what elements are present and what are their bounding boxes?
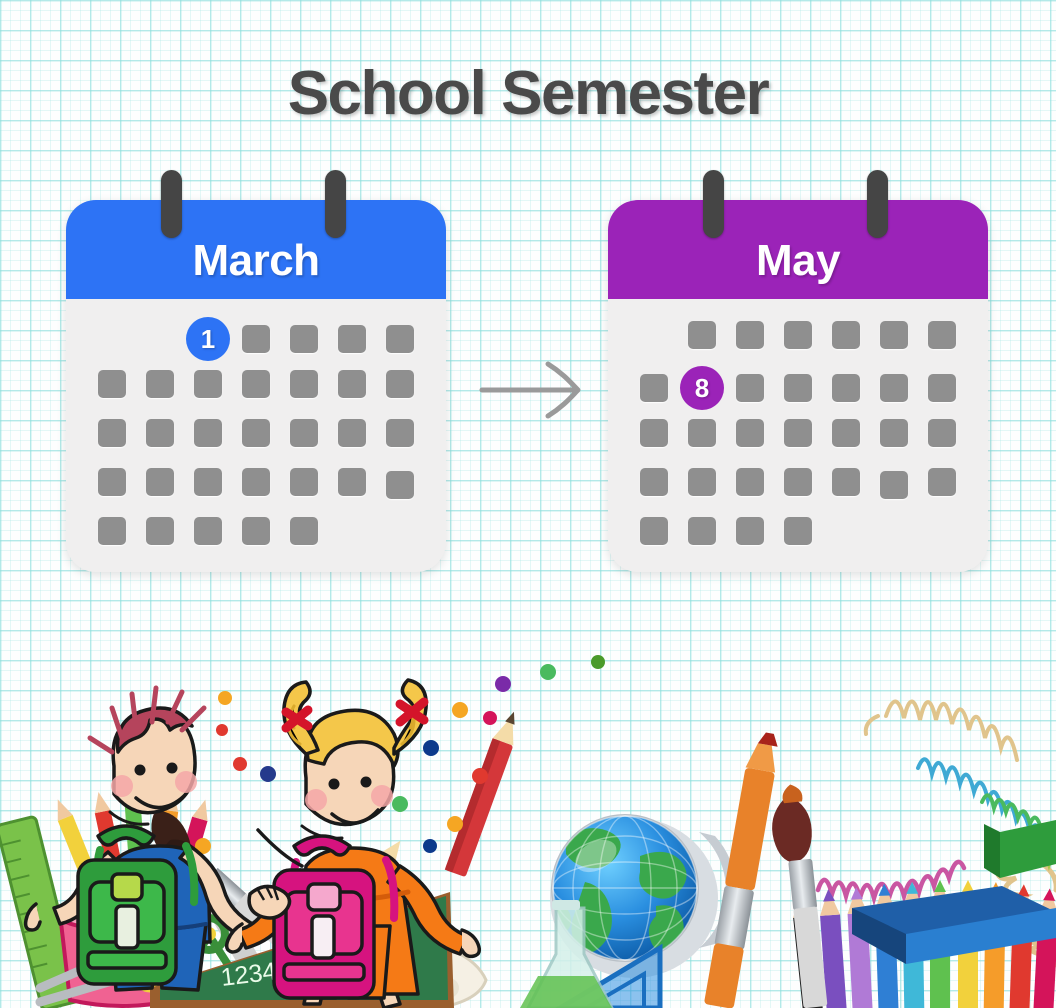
calendar-day-cell[interactable] [832, 468, 860, 496]
girl-right-pigtail [394, 680, 426, 754]
calendar-empty-cell [924, 513, 960, 549]
poster-canvas: School Semester March 1 May 8 [0, 0, 1056, 1008]
calendar-week-row [88, 366, 424, 402]
calendar-day-cell[interactable] [146, 517, 174, 545]
calendar-day-grid: 8 [608, 299, 988, 549]
calendar-day-cell[interactable] [640, 419, 668, 447]
calendar-day-cell[interactable] [242, 468, 270, 496]
calendar-empty-cell [636, 317, 672, 353]
calendar-week-row [88, 415, 424, 451]
calendar-day-cell[interactable] [146, 370, 174, 398]
calendar-day-cell[interactable] [290, 370, 318, 398]
calendar-day-cell[interactable] [98, 419, 126, 447]
calendar-highlight-day[interactable]: 1 [186, 317, 230, 361]
calendar-month-label: May [756, 239, 840, 295]
calendar-day-cell[interactable] [242, 517, 270, 545]
calendar-day-cell[interactable] [880, 321, 908, 349]
calendar-card: March 1 [66, 200, 446, 572]
calendar-week-row: 1 [88, 317, 424, 353]
calendar-week-row [88, 464, 424, 500]
calendar-ring-right-icon [325, 170, 346, 238]
calendar-day-cell[interactable] [928, 321, 956, 349]
page-title: School Semester [0, 58, 1056, 129]
calendar-day-cell[interactable] [386, 325, 414, 353]
calendar-day-cell[interactable] [784, 517, 812, 545]
calendar-day-cell[interactable] [386, 370, 414, 398]
calendar-day-cell[interactable] [242, 419, 270, 447]
calendar-day-cell[interactable] [242, 370, 270, 398]
calendar-day-cell[interactable] [338, 468, 366, 496]
confetti-dots [195, 655, 605, 854]
calendar-week-row [630, 415, 966, 451]
calendar-day-cell[interactable] [688, 419, 716, 447]
calendar-day-cell[interactable] [242, 325, 270, 353]
calendar-day-cell[interactable] [688, 321, 716, 349]
calendar-header: May [608, 200, 988, 299]
calendar-day-cell[interactable] [146, 419, 174, 447]
calendar-day-cell[interactable] [290, 517, 318, 545]
calendar-day-cell[interactable] [194, 370, 222, 398]
paintbrush-large [704, 730, 782, 1008]
calendar-march[interactable]: March 1 [66, 200, 446, 572]
calendar-empty-cell [828, 513, 864, 549]
calendar-day-grid: 1 [66, 299, 446, 549]
calendar-day-cell[interactable] [736, 517, 764, 545]
paintbrush-small [768, 783, 831, 1008]
calendar-may[interactable]: May 8 [608, 200, 988, 572]
calendar-day-cell[interactable] [784, 321, 812, 349]
arrow-right-icon [478, 360, 588, 420]
calendar-header: March [66, 200, 446, 299]
calendar-day-cell[interactable] [194, 517, 222, 545]
calendar-day-cell[interactable] [880, 471, 908, 499]
calendar-day-cell[interactable] [928, 468, 956, 496]
calendar-day-cell[interactable] [736, 374, 764, 402]
calendar-day-cell[interactable] [928, 374, 956, 402]
calendar-day-cell[interactable] [880, 374, 908, 402]
girl-left-pigtail [284, 682, 318, 754]
school-supplies-illustration: 5 · 4 = 9 123456789 [0, 588, 1056, 1008]
calendar-week-row [630, 317, 966, 353]
calendar-day-cell[interactable] [338, 419, 366, 447]
red-pencil-held [445, 708, 525, 877]
calendar-day-cell[interactable] [928, 419, 956, 447]
calendar-day-cell[interactable] [194, 419, 222, 447]
calendar-card: May 8 [608, 200, 988, 572]
calendar-empty-cell [94, 321, 130, 357]
calendar-day-cell[interactable] [784, 374, 812, 402]
calendar-empty-cell [382, 513, 418, 549]
calendar-week-row: 8 [630, 366, 966, 402]
calendar-day-cell[interactable] [338, 370, 366, 398]
calendar-day-cell[interactable] [290, 419, 318, 447]
calendar-day-cell[interactable] [736, 468, 764, 496]
calendar-ring-right-icon [867, 170, 888, 238]
calendar-week-row [630, 513, 966, 549]
calendar-day-cell[interactable] [832, 374, 860, 402]
calendar-week-row [88, 513, 424, 549]
calendar-day-cell[interactable] [640, 374, 668, 402]
calendar-empty-cell [142, 321, 178, 357]
calendar-day-cell[interactable] [386, 419, 414, 447]
calendar-day-cell[interactable] [784, 468, 812, 496]
calendar-day-cell[interactable] [290, 468, 318, 496]
calendar-highlight-day[interactable]: 8 [680, 366, 724, 410]
calendar-day-cell[interactable] [640, 517, 668, 545]
calendar-week-row [630, 464, 966, 500]
calendar-day-cell[interactable] [640, 468, 668, 496]
calendar-day-cell[interactable] [688, 517, 716, 545]
calendar-day-cell[interactable] [688, 468, 716, 496]
calendar-day-cell[interactable] [386, 471, 414, 499]
calendar-empty-cell [876, 513, 912, 549]
calendar-day-cell[interactable] [338, 325, 366, 353]
calendar-month-label: March [192, 239, 319, 295]
calendar-day-cell[interactable] [736, 321, 764, 349]
calendar-day-cell[interactable] [832, 321, 860, 349]
calendar-day-cell[interactable] [98, 468, 126, 496]
calendar-day-cell[interactable] [736, 419, 764, 447]
calendar-day-cell[interactable] [146, 468, 174, 496]
calendar-day-cell[interactable] [98, 517, 126, 545]
calendar-ring-left-icon [703, 170, 724, 238]
calendar-day-cell[interactable] [194, 468, 222, 496]
held-hands [249, 886, 289, 918]
calendar-empty-cell [334, 513, 370, 549]
calendar-day-cell[interactable] [290, 325, 318, 353]
calendar-day-cell[interactable] [98, 370, 126, 398]
calendar-day-cell[interactable] [784, 419, 812, 447]
calendar-ring-left-icon [161, 170, 182, 238]
calendar-day-cell[interactable] [880, 419, 908, 447]
calendar-day-cell[interactable] [832, 419, 860, 447]
